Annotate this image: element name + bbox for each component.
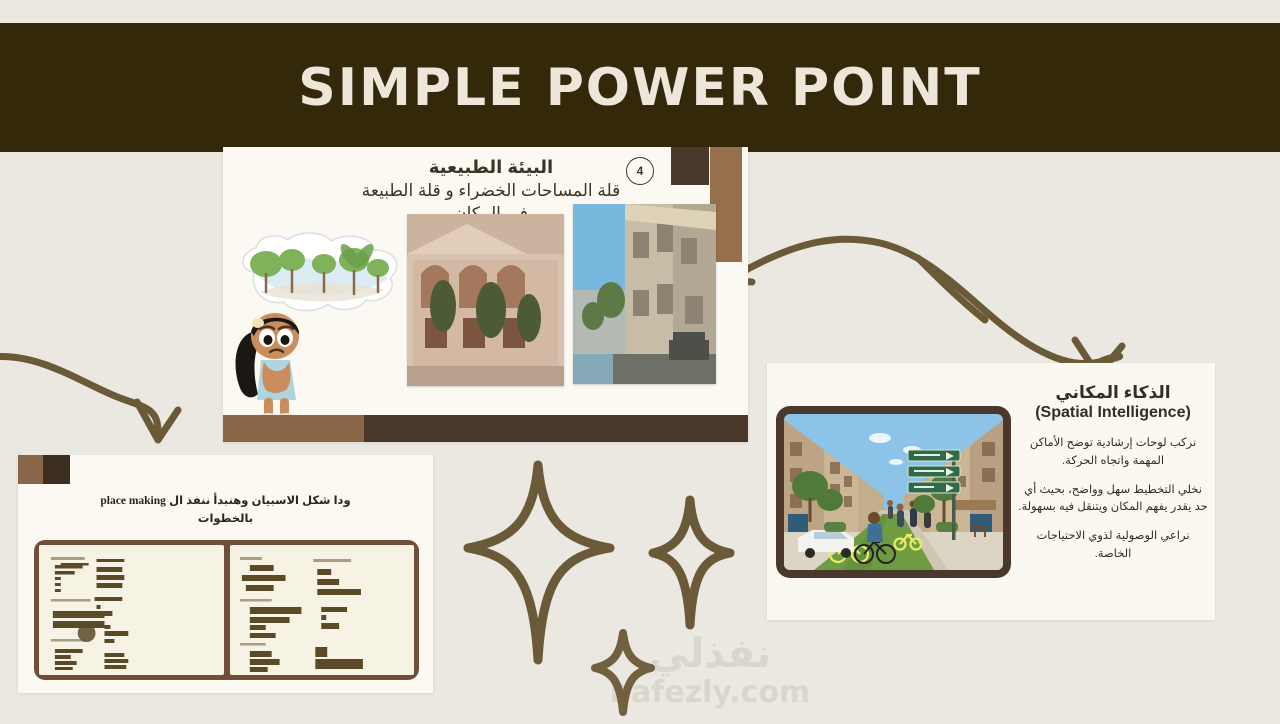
- street-bike-lane-illustration: [784, 414, 1003, 570]
- document-page-left: [39, 545, 224, 675]
- medium-four-point-star-icon: [653, 500, 730, 625]
- slide-title: البيئة الطبيعية: [326, 156, 656, 179]
- slide-place-making[interactable]: ودا شكل الاسبيان وهنبدأ ننفذ ال place ma…: [18, 455, 433, 693]
- spatial-title-english: (Spatial Intelligence): [1017, 403, 1209, 423]
- slide-bottom-bar-dark: [364, 415, 748, 442]
- slide-spatial-intelligence[interactable]: الذكاء المكاني (Spatial Intelligence) نر…: [767, 363, 1215, 620]
- street-image-frame: [776, 406, 1011, 578]
- accent-square-dark: [671, 147, 709, 185]
- spatial-intelligence-text: الذكاء المكاني (Spatial Intelligence) نر…: [1017, 383, 1209, 563]
- accent-square-dark: [43, 455, 70, 484]
- heading-text-before: ودا شكل الاسبيان وهنبدأ ننفذ ال: [169, 495, 351, 507]
- spatial-paragraph-1: نركب لوحات إرشادية توضح الأماكن المهمة و…: [1017, 435, 1209, 470]
- arrow-left-icon: [0, 356, 178, 440]
- document-frame: [34, 540, 419, 680]
- document-page-right: [230, 545, 415, 675]
- sad-girl-character-illustration: [228, 302, 323, 427]
- presentation-canvas: SIMPLE POWER POINT نفذلي nafezly.com: [0, 0, 1280, 720]
- place-making-heading: ودا شكل الاسبيان وهنبدأ ننفذ ال place ma…: [48, 493, 403, 529]
- spatial-paragraph-2: نخلي التخطيط سهل وواضح، بحيث أي حد يقدر …: [1017, 482, 1209, 517]
- spatial-paragraph-3: نراعي الوصولية لذوي الاحتياجات الخاصة.: [1017, 528, 1209, 563]
- photo-old-building: [407, 214, 564, 386]
- spatial-title-arabic: الذكاء المكاني: [1017, 383, 1209, 403]
- slide-subtitle-line1: قلة المساحات الخضراء و قلة الطبيعة: [326, 180, 656, 202]
- slide-natural-environment[interactable]: 4 البيئة الطبيعية قلة المساحات الخضراء و…: [223, 147, 748, 442]
- arrow-right-icon: [722, 239, 1122, 375]
- heading-text-line2: بالخطوات: [198, 513, 253, 525]
- large-four-point-star-icon: [468, 465, 610, 660]
- small-four-point-star-icon: [595, 633, 651, 712]
- photo-narrow-street: [573, 204, 716, 384]
- heading-text-english: place making: [100, 495, 166, 507]
- accent-square-light: [18, 455, 43, 484]
